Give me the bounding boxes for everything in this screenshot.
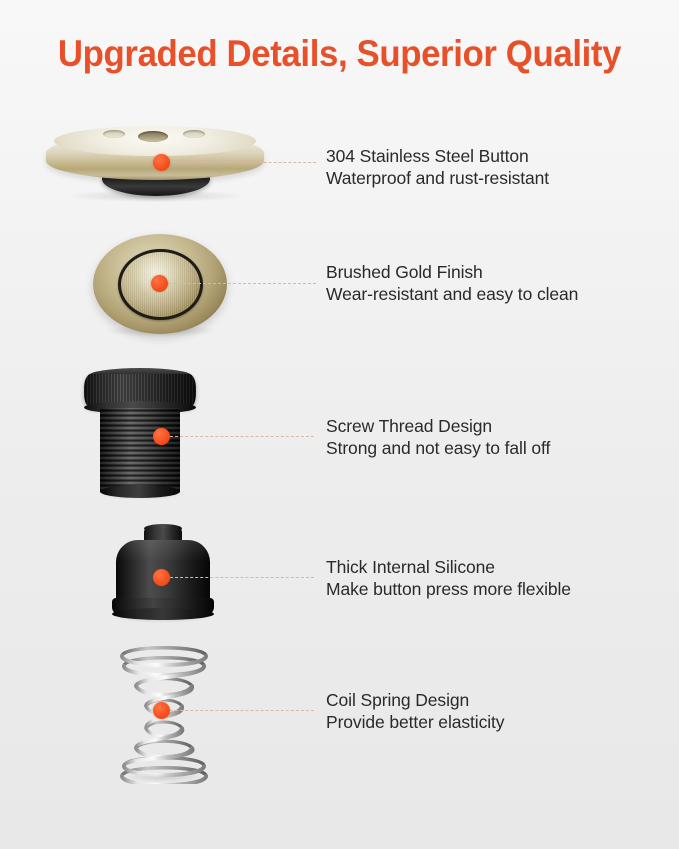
- feature-callout-5: Coil Spring Design Provide better elasti…: [326, 690, 504, 733]
- leader-line-2: [168, 283, 316, 284]
- flange-hole-left: [103, 130, 125, 138]
- feature-callout-2: Brushed Gold Finish Wear-resistant and e…: [326, 262, 578, 305]
- feature-subtext-3: Strong and not easy to fall off: [326, 438, 550, 460]
- feature-heading-1: 304 Stainless Steel Button: [326, 146, 529, 166]
- boot-base-bottom: [112, 608, 214, 620]
- page-title: Upgraded Details, Superior Quality: [20, 33, 658, 75]
- drop-shadow: [126, 772, 202, 782]
- feature-heading-2: Brushed Gold Finish: [326, 262, 483, 282]
- orange-dot-marker-5: [153, 702, 170, 719]
- feature-subtext-1: Waterproof and rust-resistant: [326, 168, 549, 190]
- flange-hole-center: [138, 131, 168, 142]
- feature-heading-4: Thick Internal Silicone: [326, 557, 495, 577]
- orange-dot-marker-4: [153, 569, 170, 586]
- orange-dot-marker-2: [151, 275, 168, 292]
- feature-heading-3: Screw Thread Design: [326, 416, 492, 436]
- feature-subtext-2: Wear-resistant and easy to clean: [326, 284, 578, 306]
- feature-callout-3: Screw Thread Design Strong and not easy …: [326, 416, 550, 459]
- product-feature-infographic: Upgraded Details, Superior Quality: [0, 0, 679, 849]
- orange-dot-marker-3: [153, 428, 170, 445]
- feature-callout-4: Thick Internal Silicone Make button pres…: [326, 557, 571, 600]
- leader-line-3: [170, 436, 314, 437]
- feature-callout-1: 304 Stainless Steel Button Waterproof an…: [326, 146, 549, 189]
- barrel-shaft-end: [100, 485, 180, 498]
- feature-subtext-4: Make button press more flexible: [326, 579, 571, 601]
- flange-hole-right: [183, 130, 205, 138]
- product-part-black-threaded-barrel: [78, 368, 202, 496]
- barrel-threaded-shaft: [100, 408, 180, 492]
- leader-line-5: [170, 710, 314, 711]
- leader-line-4: [170, 577, 314, 578]
- leader-line-1: [170, 162, 316, 163]
- feature-heading-5: Coil Spring Design: [326, 690, 469, 710]
- orange-dot-marker-1: [153, 154, 170, 171]
- feature-subtext-5: Provide better elasticity: [326, 712, 504, 734]
